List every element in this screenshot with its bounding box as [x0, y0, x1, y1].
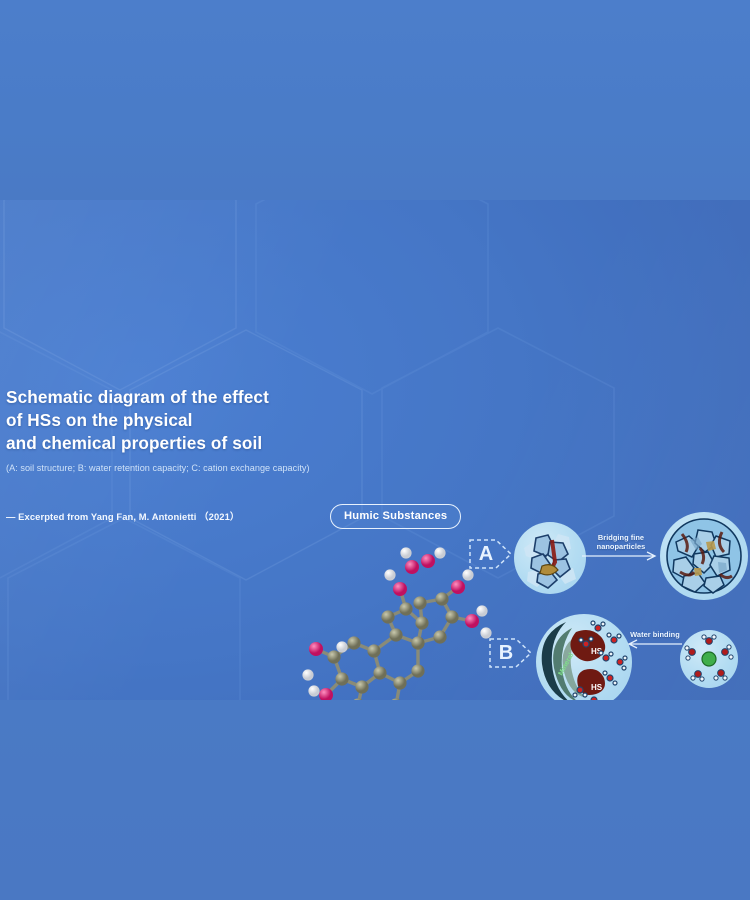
row-a-letter: A: [472, 533, 500, 575]
top-background-band: [0, 0, 750, 200]
row-a-right-panel-aggregate: [660, 512, 748, 600]
figure-panel: Schematic diagram of the effect of HSs o…: [0, 200, 750, 700]
row-a-arrow-right-icon: [580, 551, 662, 561]
figure-credit: — Excerpted from Yang Fan, M. Antonietti…: [6, 509, 346, 523]
svg-text:HS: HS: [591, 683, 603, 692]
row-a-left-panel-dispersed-particles: [514, 522, 586, 594]
title-line-3: and chemical properties of soil: [6, 432, 346, 455]
row-a-letter-arrow: A: [468, 533, 514, 575]
row-a-connector-label: Bridging fine nanoparticles: [580, 533, 662, 551]
text-block: Schematic diagram of the effect of HSs o…: [6, 386, 346, 523]
row-a-label-line-2: nanoparticles: [580, 542, 662, 551]
figure-title: Schematic diagram of the effect of HSs o…: [6, 386, 346, 455]
row-a-connector: Bridging fine nanoparticles: [580, 533, 662, 561]
bottom-background-band: [0, 700, 750, 900]
title-line-2: of HSs on the physical: [6, 409, 346, 432]
row-b-connector: Water binding: [626, 630, 684, 649]
row-a-label-line-1: Bridging fine: [580, 533, 662, 542]
row-b-letter-arrow: B: [488, 632, 534, 674]
row-b-connector-label: Water binding: [626, 630, 684, 639]
figure-subtitle: (A: soil structure; B: water retention c…: [6, 463, 346, 475]
row-b-right-panel-hydrated-cation: [680, 630, 738, 688]
figure-root: Schematic diagram of the effect of HSs o…: [0, 0, 750, 900]
row-b-left-panel-humic-water-shell: HS HS Mineral: [536, 614, 632, 700]
row-b-letter: B: [492, 632, 520, 674]
title-line-1: Schematic diagram of the effect: [6, 386, 346, 409]
row-b-arrow-left-icon: [626, 639, 684, 649]
